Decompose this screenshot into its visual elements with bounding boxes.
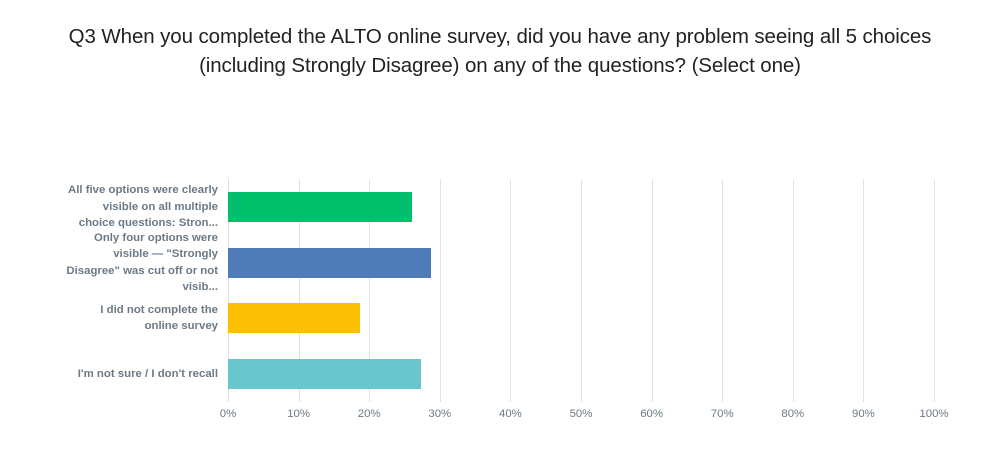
page-title: Q3 When you completed the ALTO online su… — [30, 22, 970, 80]
category-label-3: I did not complete theonline survey — [40, 302, 218, 335]
category-label-line: Disagree" was cut off or not — [40, 263, 218, 280]
bar-row — [228, 179, 934, 235]
x-tick-label-0: 0% — [220, 406, 236, 422]
bar-2[interactable] — [228, 248, 431, 278]
category-label-line: online survey — [40, 318, 218, 335]
category-label-line: visib... — [40, 279, 218, 296]
category-label-1: All five options were clearlyvisible on … — [40, 182, 218, 232]
chart-page: Q3 When you completed the ALTO online su… — [0, 0, 1000, 468]
category-label-line: I did not complete the — [40, 302, 218, 319]
x-tick-label-60: 60% — [640, 406, 663, 422]
plot-area — [228, 179, 934, 402]
bar-row — [228, 346, 934, 402]
category-label-line: visible on all multiple — [40, 199, 218, 216]
x-tick-label-80: 80% — [781, 406, 804, 422]
category-label-line: All five options were clearly — [40, 182, 218, 199]
bar-3[interactable] — [228, 303, 360, 333]
x-tick-label-30: 30% — [428, 406, 451, 422]
x-tick-label-10: 10% — [287, 406, 310, 422]
gridline-100 — [934, 179, 935, 402]
category-label-4: I'm not sure / I don't recall — [40, 366, 218, 383]
bar-4[interactable] — [228, 359, 421, 389]
category-label-line: I'm not sure / I don't recall — [40, 366, 218, 383]
bar-series — [228, 179, 934, 402]
category-label-2: Only four options werevisible — "Strongl… — [40, 230, 218, 296]
category-label-line: visible — "Strongly — [40, 246, 218, 263]
x-tick-label-50: 50% — [570, 406, 593, 422]
x-tick-label-40: 40% — [499, 406, 522, 422]
x-tick-label-90: 90% — [852, 406, 875, 422]
bar-1[interactable] — [228, 192, 412, 222]
bar-row — [228, 291, 934, 347]
bar-row — [228, 235, 934, 291]
category-label-line: Only four options were — [40, 230, 218, 247]
x-axis-tick-labels: 0%10%20%30%40%50%60%70%80%90%100% — [228, 406, 934, 426]
x-tick-label-70: 70% — [711, 406, 734, 422]
x-tick-label-100: 100% — [919, 406, 948, 422]
category-axis-labels: All five options were clearlyvisible on … — [40, 179, 218, 402]
x-tick-label-20: 20% — [358, 406, 381, 422]
